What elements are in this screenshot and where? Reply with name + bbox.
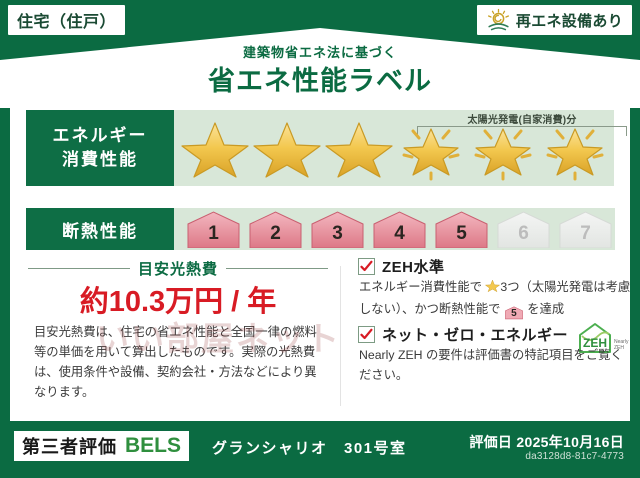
insulation-performance-row: 断熱性能 1 — [26, 208, 614, 250]
insulation-level-house: 7 — [556, 210, 615, 248]
building-type-badge: 住宅（住戸） — [8, 5, 125, 35]
energy-performance-label: 住宅（住戸） 再エネ設備あり 建築物省エネ法に基づく 省エネ性能ラベル — [0, 0, 640, 478]
insulation-level-number: 4 — [394, 223, 405, 245]
zeh-standard-heading: ZEH水準 — [358, 256, 445, 277]
inline-star-icon — [485, 278, 500, 299]
energy-performance-label-box: エネルギー 消費性能 — [26, 110, 174, 186]
unit-name: グランシャリオ 301号室 — [212, 437, 407, 458]
net-zero-energy-body: Nearly ZEH の要件は評価書の特記項目をご覧ください。 — [359, 345, 631, 385]
zeh-body-pre: エネルギー消費性能で — [359, 280, 485, 294]
insulation-label-text: 断熱性能 — [62, 217, 138, 242]
insulation-level-number: 7 — [580, 223, 591, 245]
insulation-level-number: 2 — [270, 223, 281, 245]
third-party-eval-text: 第三者評価 — [22, 433, 117, 459]
net-zero-energy-heading: ネット・ゼロ・エネルギー — [358, 324, 568, 345]
zeh-body-post: を達成 — [524, 302, 564, 316]
insulation-level-house: 4 — [370, 210, 429, 248]
zeh-standard-body: エネルギー消費性能で 3つ（太陽光発電は考慮しない）、かつ断熱性能で 5 を達成 — [359, 277, 631, 320]
utility-cost-heading-text: 目安光熱費 — [138, 258, 218, 279]
building-type-text: 住宅（住戸） — [17, 8, 116, 32]
bels-logo-text: BELS — [125, 434, 181, 458]
insulation-level-number: 3 — [332, 223, 343, 245]
sun-icon — [486, 8, 511, 32]
insulation-level-number: 1 — [208, 223, 219, 245]
insulation-level-number: 6 — [518, 223, 529, 245]
heading-rule-left — [28, 268, 130, 270]
star-icon — [324, 115, 394, 181]
insulation-level-house: 3 — [308, 210, 367, 248]
evaluation-id: da3128d8-81c7-4773 — [525, 451, 624, 462]
star-solar-icon — [540, 115, 610, 181]
renewable-equipment-badge: 再エネ設備あり — [477, 5, 632, 35]
star-rating — [174, 115, 610, 181]
checkbox-checked-icon — [358, 326, 375, 343]
star-icon — [252, 115, 322, 181]
label-card: エネルギー 消費性能 太陽光発電(自家消費)分 — [10, 96, 630, 421]
energy-label-line2: 消費性能 — [62, 148, 138, 172]
heading-rule-right — [226, 268, 328, 270]
insulation-level-house-achieved: 5 — [432, 210, 491, 248]
utility-cost-heading: 目安光熱費 — [28, 258, 328, 279]
renewable-badge-text: 再エネ設備あり — [516, 10, 623, 31]
star-icon — [180, 115, 250, 181]
utility-cost-note: 目安光熱費は、住宅の省エネ性能と全国一律の燃料等の単価を用いて算出したものです。… — [34, 322, 326, 402]
net-zero-energy-title: ネット・ゼロ・エネルギー — [382, 324, 568, 345]
inline-insulation-level: 5 — [511, 308, 517, 319]
insulation-level-house: 6 — [494, 210, 553, 248]
energy-stars-panel: 太陽光発電(自家消費)分 — [174, 110, 614, 186]
bels-badge: 第三者評価 BELS — [14, 431, 189, 461]
zeh-standard-title: ZEH水準 — [382, 256, 445, 277]
insulation-level-number: 5 — [456, 223, 467, 245]
insulation-level-house: 2 — [246, 210, 305, 248]
inline-insulation-house-icon: 5 — [504, 305, 524, 320]
insulation-scale-panel: 1 2 3 — [174, 208, 615, 250]
insulation-level-scale: 1 2 3 — [174, 210, 615, 248]
utility-cost-value: 約10.3万円 / 年 — [28, 278, 328, 320]
insulation-level-house: 1 — [184, 210, 243, 248]
energy-performance-row: エネルギー 消費性能 太陽光発電(自家消費)分 — [26, 110, 614, 186]
evaluation-date: 評価日 2025年10月16日 — [469, 432, 624, 452]
insulation-performance-label-box: 断熱性能 — [26, 208, 174, 250]
star-solar-icon — [396, 115, 466, 181]
checkbox-checked-icon — [358, 258, 375, 275]
column-divider — [340, 266, 341, 406]
label-title: 省エネ性能ラベル — [0, 59, 640, 98]
energy-label-line1: エネルギー — [53, 124, 148, 148]
star-solar-icon — [468, 115, 538, 181]
